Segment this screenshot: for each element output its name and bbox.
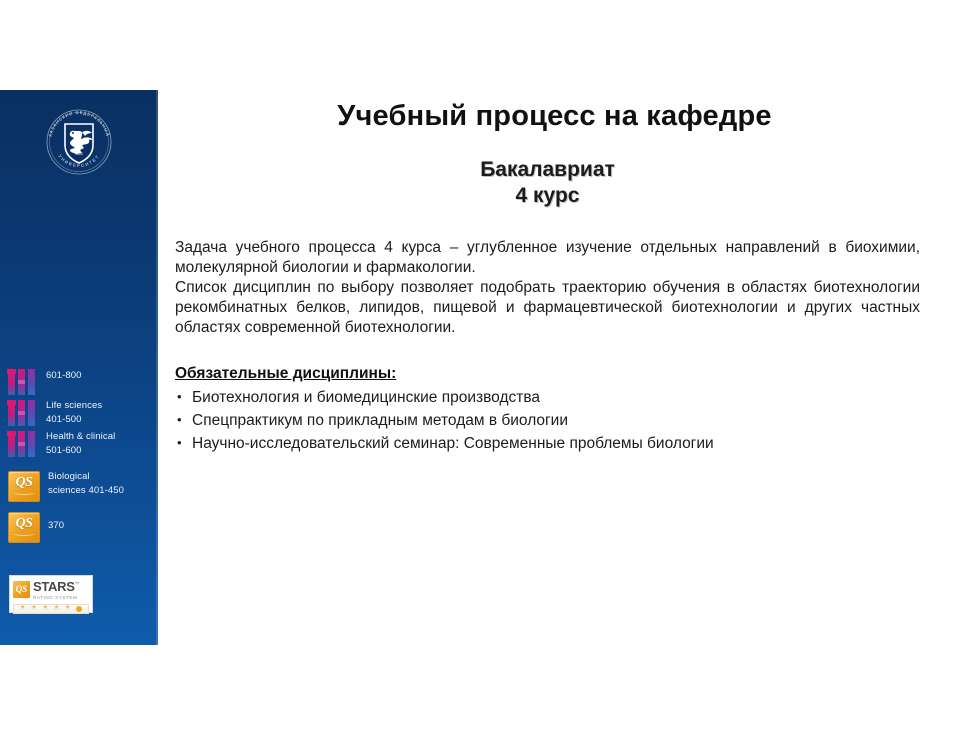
list-item: Биотехнология и биомедицинские производс… — [175, 386, 920, 409]
star-icon: ★ — [42, 605, 48, 612]
qs-logo-icon: QS — [8, 471, 40, 502]
qs-stars-mark-label: QS — [13, 581, 30, 598]
qs-stars-rating-strip: ★ ★ ★ ★ ★ — [13, 604, 89, 614]
subtitle-line-degree: Бакалавриат — [175, 157, 920, 183]
ranking-label: Health & clinical 501-600 — [46, 430, 115, 457]
subtitle-line-year: 4 курс — [175, 183, 920, 209]
body-paragraphs: Задача учебного процесса 4 курса – углуб… — [175, 238, 920, 338]
qs-stars-rating-badge: QS STARS™ RATING SYSTEM ★ ★ ★ ★ ★ — [9, 575, 93, 613]
university-emblem-icon: КАЗАНСКИЙ ФЕДЕРАЛЬНЫЙ УНИВЕРСИТЕТ 1804 — [42, 105, 116, 179]
slide-subtitle: Бакалавриат 4 курс — [175, 157, 920, 208]
rankings-list: 601-800 Life sciences 401-500 Health & c… — [8, 368, 158, 552]
ranking-label: 370 — [48, 511, 64, 533]
times-higher-education-logo-icon — [8, 400, 38, 426]
qs-stars-title: STARS — [33, 579, 75, 594]
star-icon: ★ — [54, 605, 60, 612]
sidebar-panel: КАЗАНСКИЙ ФЕДЕРАЛЬНЫЙ УНИВЕРСИТЕТ 1804 — [0, 90, 158, 645]
ranking-row-the-life-sciences: Life sciences 401-500 — [8, 399, 158, 426]
qs-stars-subtitle: RATING SYSTEM — [33, 596, 79, 601]
star-icon: ★ — [65, 605, 71, 612]
list-item: Спецпрактикум по прикладным методам в би… — [175, 409, 920, 432]
paragraph-goal: Задача учебного процесса 4 курса – углуб… — [175, 238, 920, 278]
rating-dot-icon — [76, 606, 82, 612]
emblem-year: 1804 — [75, 152, 83, 156]
times-higher-education-logo-icon — [8, 369, 38, 395]
ranking-row-qs-overall: QS 370 — [8, 511, 158, 543]
ranking-label: Life sciences 401-500 — [46, 399, 102, 426]
required-courses-heading: Обязательные дисциплины: — [175, 365, 396, 383]
star-icon: ★ — [20, 605, 26, 612]
slide-content: Учебный процесс на кафедре Бакалавриат 4… — [175, 100, 920, 455]
required-courses-list: Биотехнология и биомедицинские производс… — [175, 386, 920, 455]
list-item: Научно-исследовательский семинар: Соврем… — [175, 432, 920, 455]
ranking-row-the-overall: 601-800 — [8, 368, 158, 395]
ranking-row-the-health-clinical: Health & clinical 501-600 — [8, 430, 158, 457]
qs-stars-logo-icon: QS — [13, 581, 30, 598]
times-higher-education-logo-icon — [8, 431, 38, 457]
star-icon: ★ — [31, 605, 37, 612]
ranking-label: Biological sciences 401-450 — [48, 470, 124, 497]
presentation-slide: КАЗАНСКИЙ ФЕДЕРАЛЬНЫЙ УНИВЕРСИТЕТ 1804 — [0, 0, 980, 735]
trademark-symbol: ™ — [75, 582, 80, 588]
ranking-label: 601-800 — [46, 368, 82, 383]
paragraph-electives: Список дисциплин по выбору позволяет под… — [175, 278, 920, 338]
slide-title: Учебный процесс на кафедре — [175, 100, 920, 133]
qs-logo-icon: QS — [8, 512, 40, 543]
ranking-row-qs-biological-sciences: QS Biological sciences 401-450 — [8, 470, 158, 502]
